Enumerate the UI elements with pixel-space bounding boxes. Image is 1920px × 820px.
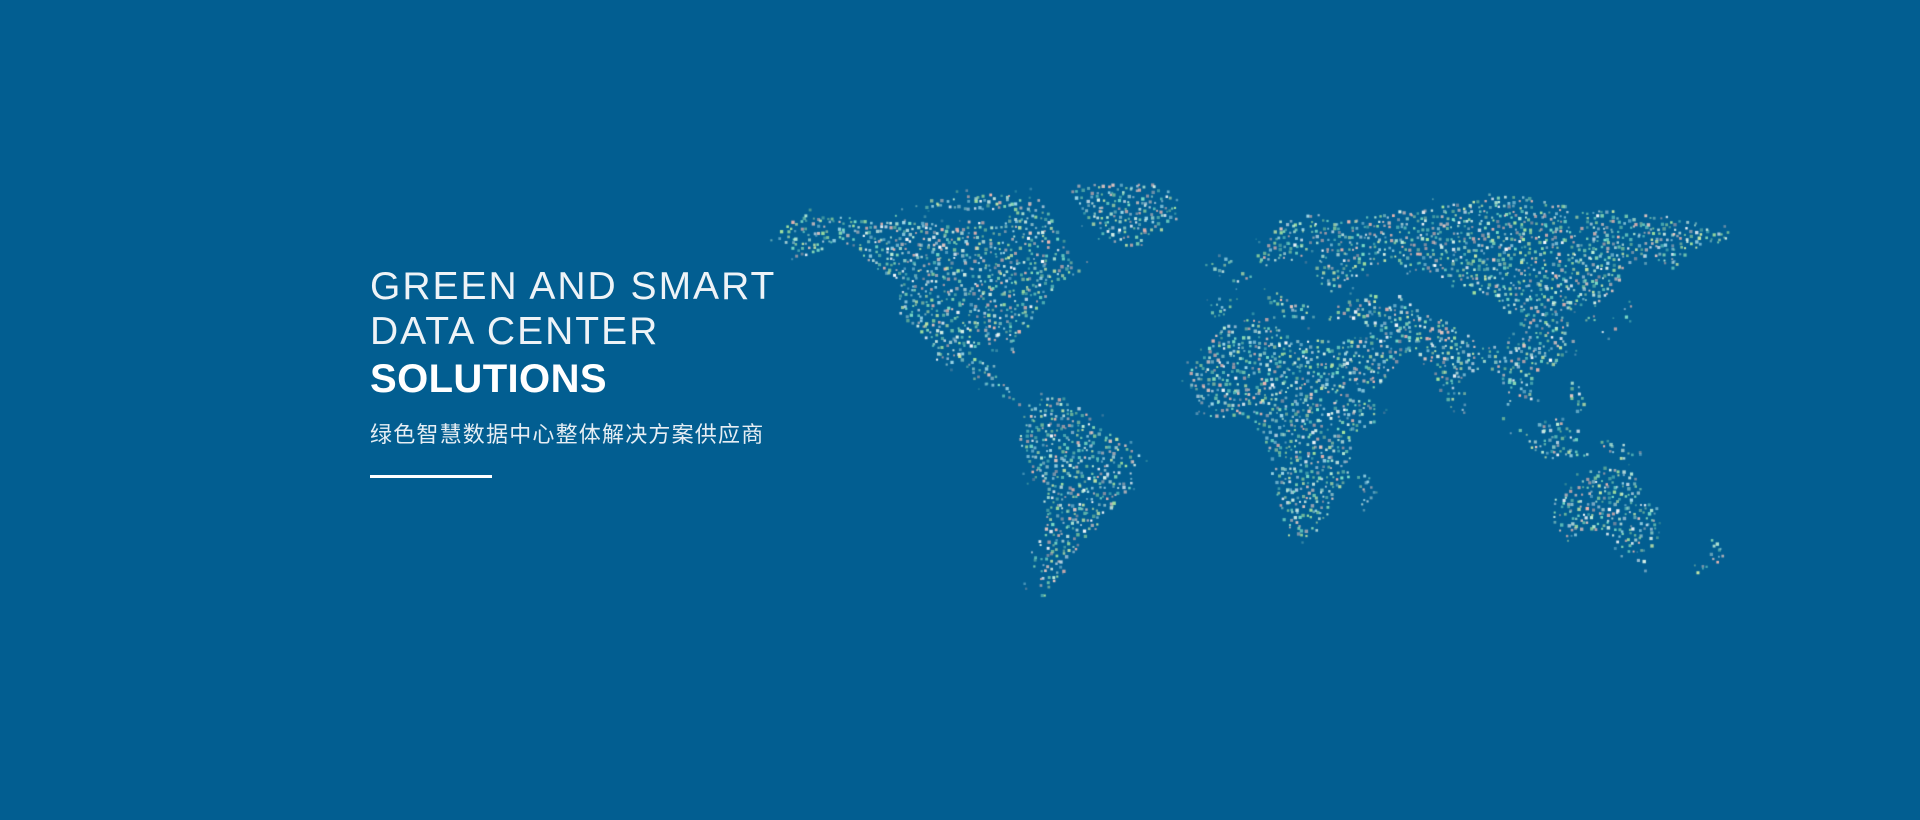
headline-block: GREEN AND SMART DATA CENTER SOLUTIONS 绿色… [370, 264, 1090, 478]
subtitle-chinese: 绿色智慧数据中心整体解决方案供应商 [370, 420, 1090, 450]
hero-banner: GREEN AND SMART DATA CENTER SOLUTIONS 绿色… [0, 0, 1920, 820]
headline-line-1: GREEN AND SMART [370, 264, 1090, 309]
headline-line-3-emphasis: SOLUTIONS [370, 355, 1090, 404]
headline-line-2: DATA CENTER [370, 309, 1090, 354]
divider-rule [370, 475, 492, 478]
